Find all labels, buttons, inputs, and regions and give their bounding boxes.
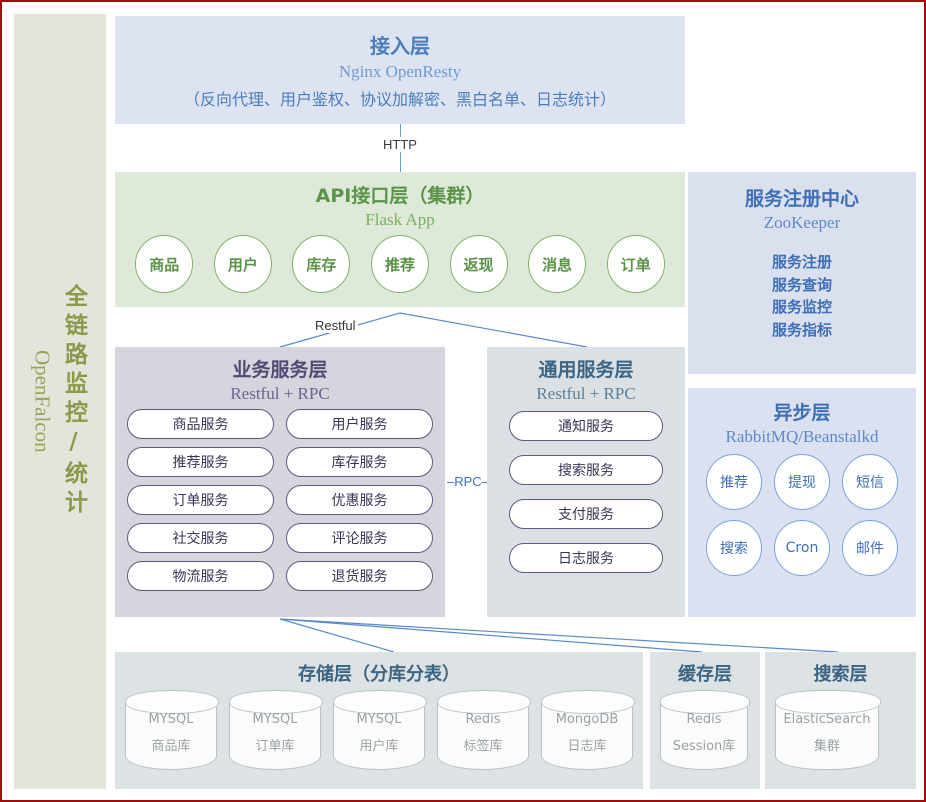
- api-module-用户[interactable]: 用户: [214, 235, 272, 293]
- access-layer-panel: 接入层 Nginx OpenResty （反向代理、用户鉴权、协议加解密、黑白名…: [115, 16, 685, 124]
- db-name-label: 日志库: [567, 738, 606, 757]
- business-layer-title: 业务服务层: [115, 355, 445, 382]
- async-task-list: 推荐 提现 短信 搜索 Cron 邮件: [704, 454, 900, 576]
- common-service-支付服务[interactable]: 支付服务: [509, 499, 663, 529]
- search-connector: [280, 619, 838, 652]
- registry-feature-服务查询: 服务查询: [688, 274, 916, 297]
- api-module-商品[interactable]: 商品: [135, 235, 193, 293]
- http-connector: HTTP: [115, 124, 685, 172]
- access-layer-description: （反向代理、用户鉴权、协议加解密、黑白名单、日志统计）: [115, 86, 685, 110]
- api-layer-subtitle: Flask App: [115, 210, 685, 230]
- registry-feature-服务指标: 服务指标: [688, 319, 916, 342]
- async-layer-panel: 异步层 RabbitMQ/Beanstalkd 推荐 提现 短信 搜索 Cron…: [688, 388, 916, 617]
- async-task-cron[interactable]: Cron: [774, 520, 830, 576]
- common-service-layer-panel: 通用服务层 Restful + RPC 通知服务 搜索服务 支付服务 日志服务: [487, 347, 685, 617]
- search-layer-panel: 搜索层 ElasticSearch 集群: [765, 652, 916, 789]
- api-module-list: 商品 用户 库存 推荐 返现 消息 订单: [115, 235, 685, 293]
- api-module-库存[interactable]: 库存: [292, 235, 350, 293]
- business-service-评论服务[interactable]: 评论服务: [286, 523, 433, 553]
- cache-layer-panel: 缓存层 Redis Session库: [650, 652, 760, 789]
- api-layer-title: API接口层（集群）: [115, 181, 685, 208]
- service-registry-panel: 服务注册中心 ZooKeeper 服务注册 服务查询 服务监控 服务指标: [688, 172, 916, 374]
- async-task-短信[interactable]: 短信: [842, 454, 898, 510]
- business-service-优惠服务[interactable]: 优惠服务: [286, 485, 433, 515]
- business-service-物流服务[interactable]: 物流服务: [127, 561, 274, 591]
- business-service-推荐服务[interactable]: 推荐服务: [127, 447, 274, 477]
- db-name-label: 标签库: [463, 738, 502, 757]
- database-cylinder-mysql-商品库[interactable]: MYSQL 商品库: [125, 690, 217, 770]
- business-service-商品服务[interactable]: 商品服务: [127, 409, 274, 439]
- monitoring-sidebar: OpenFalcon 全链路监控/统计: [14, 14, 106, 789]
- search-layer-title: 搜索层: [765, 660, 916, 686]
- business-service-layer-panel: 业务服务层 Restful + RPC 商品服务 用户服务 推荐服务 库存服务 …: [115, 347, 445, 617]
- api-module-订单[interactable]: 订单: [607, 235, 665, 293]
- async-task-提现[interactable]: 提现: [774, 454, 830, 510]
- api-module-消息[interactable]: 消息: [528, 235, 586, 293]
- async-task-邮件[interactable]: 邮件: [842, 520, 898, 576]
- architecture-diagram: OpenFalcon 全链路监控/统计 接入层 Nginx OpenResty …: [0, 0, 926, 802]
- db-engine-label: Redis: [465, 711, 500, 730]
- storage-database-list: MYSQL 商品库 MYSQL 订单库 MYSQL 用户库 Redis 标签库 …: [125, 690, 633, 770]
- database-cylinder-elasticsearch-集群[interactable]: ElasticSearch 集群: [775, 690, 879, 770]
- db-engine-label: MYSQL: [253, 711, 298, 730]
- async-layer-subtitle: RabbitMQ/Beanstalkd: [688, 427, 916, 447]
- database-cylinder-redis-标签库[interactable]: Redis 标签库: [437, 690, 529, 770]
- search-database-list: ElasticSearch 集群: [775, 690, 906, 770]
- cache-connector: [280, 619, 702, 652]
- cache-layer-title: 缓存层: [650, 660, 760, 686]
- db-engine-label: Redis: [686, 711, 721, 730]
- db-name-label: 集群: [814, 738, 840, 757]
- monitoring-sidebar-en-label: OpenFalcon: [30, 350, 55, 453]
- registry-feature-服务监控: 服务监控: [688, 296, 916, 319]
- common-service-搜索服务[interactable]: 搜索服务: [509, 455, 663, 485]
- db-name-label: 订单库: [255, 738, 294, 757]
- rpc-connector-label: –RPC–: [445, 474, 491, 489]
- monitoring-sidebar-cn-label: 全链路监控/统计: [57, 284, 91, 519]
- access-layer-subtitle: Nginx OpenResty: [115, 62, 685, 82]
- api-module-推荐[interactable]: 推荐: [371, 235, 429, 293]
- api-layer-panel: API接口层（集群） Flask App 商品 用户 库存 推荐 返现 消息 订…: [115, 172, 685, 307]
- restful-connector-label: Restful: [312, 318, 358, 333]
- database-cylinder-redis-session库[interactable]: Redis Session库: [660, 690, 748, 770]
- common-layer-title: 通用服务层: [487, 355, 685, 382]
- database-cylinder-mongodb-日志库[interactable]: MongoDB 日志库: [541, 690, 633, 770]
- service-registry-subtitle: ZooKeeper: [688, 213, 916, 233]
- http-connector-label: HTTP: [378, 137, 422, 152]
- business-service-订单服务[interactable]: 订单服务: [127, 485, 274, 515]
- business-service-list: 商品服务 用户服务 推荐服务 库存服务 订单服务 优惠服务 社交服务 评论服务 …: [127, 409, 433, 591]
- async-layer-title: 异步层: [688, 398, 916, 425]
- business-layer-subtitle: Restful + RPC: [115, 384, 445, 404]
- storage-connector: [280, 619, 394, 652]
- db-name-label: 商品库: [151, 738, 190, 757]
- storage-layer-title: 存储层（分库分表）: [115, 660, 643, 686]
- business-service-社交服务[interactable]: 社交服务: [127, 523, 274, 553]
- common-service-list: 通知服务 搜索服务 支付服务 日志服务: [509, 411, 663, 573]
- db-engine-label: MYSQL: [149, 711, 194, 730]
- api-module-返现[interactable]: 返现: [450, 235, 508, 293]
- database-cylinder-mysql-订单库[interactable]: MYSQL 订单库: [229, 690, 321, 770]
- cache-database-list: Redis Session库: [660, 690, 750, 770]
- db-name-label: 用户库: [359, 738, 398, 757]
- business-service-退货服务[interactable]: 退货服务: [286, 561, 433, 591]
- service-registry-feature-list: 服务注册 服务查询 服务监控 服务指标: [688, 251, 916, 341]
- access-layer-title: 接入层: [115, 30, 685, 59]
- business-service-库存服务[interactable]: 库存服务: [286, 447, 433, 477]
- common-service-日志服务[interactable]: 日志服务: [509, 543, 663, 573]
- db-engine-label: MongoDB: [556, 711, 619, 730]
- db-name-label: Session库: [673, 738, 736, 757]
- db-engine-label: MYSQL: [357, 711, 402, 730]
- registry-feature-服务注册: 服务注册: [688, 251, 916, 274]
- common-service-通知服务[interactable]: 通知服务: [509, 411, 663, 441]
- business-service-用户服务[interactable]: 用户服务: [286, 409, 433, 439]
- service-registry-title: 服务注册中心: [688, 184, 916, 211]
- storage-layer-panel: 存储层（分库分表） MYSQL 商品库 MYSQL 订单库 MYSQL 用户库 …: [115, 652, 643, 789]
- common-layer-subtitle: Restful + RPC: [487, 384, 685, 404]
- db-engine-label: ElasticSearch: [783, 711, 870, 730]
- async-task-推荐[interactable]: 推荐: [706, 454, 762, 510]
- database-cylinder-mysql-用户库[interactable]: MYSQL 用户库: [333, 690, 425, 770]
- async-task-搜索[interactable]: 搜索: [706, 520, 762, 576]
